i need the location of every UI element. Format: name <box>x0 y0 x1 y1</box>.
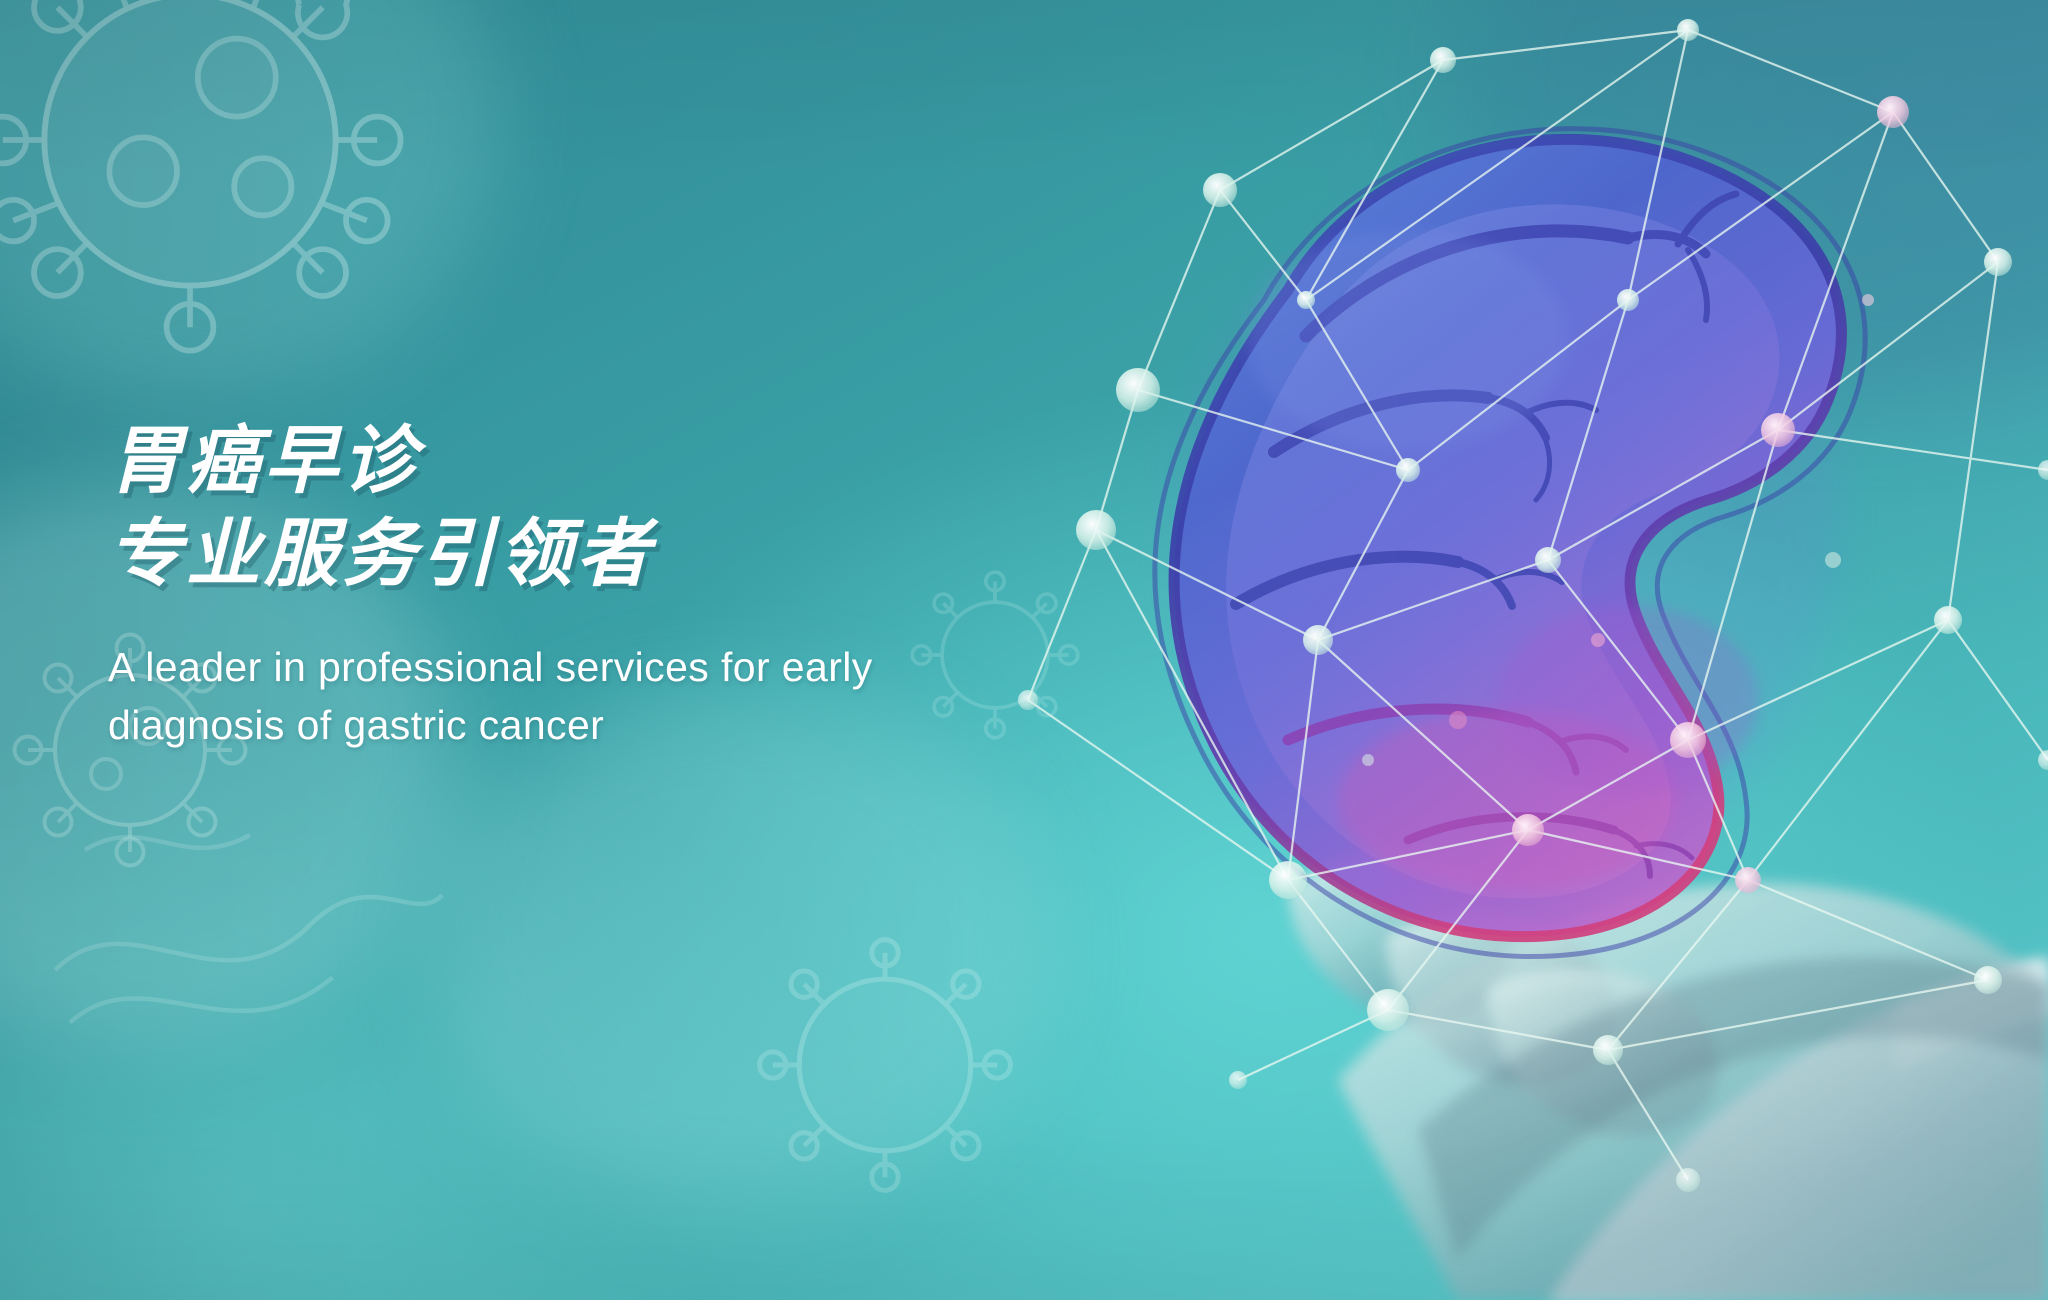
hero-banner: 胃癌早诊 专业服务引领者 A leader in professional se… <box>0 0 2048 1300</box>
banner-copy: 胃癌早诊 专业服务引领者 A leader in professional se… <box>108 420 1128 754</box>
bg-glow-topleft <box>0 0 500 400</box>
bacteria-motif-left <box>40 760 460 1090</box>
subtitle-line-1: A leader in professional services for ea… <box>108 638 1128 696</box>
bg-glow-center <box>430 690 1050 1210</box>
virus-cell-motif-topleft <box>0 0 450 400</box>
headline-line-1: 胃癌早诊 <box>108 420 1128 503</box>
headline-line-2: 专业服务引领者 <box>108 513 1128 596</box>
subtitle-line-2: diagnosis of gastric cancer <box>108 696 1128 754</box>
hero-artwork <box>988 0 2048 1300</box>
subtitle-block: A leader in professional services for ea… <box>108 638 1128 754</box>
